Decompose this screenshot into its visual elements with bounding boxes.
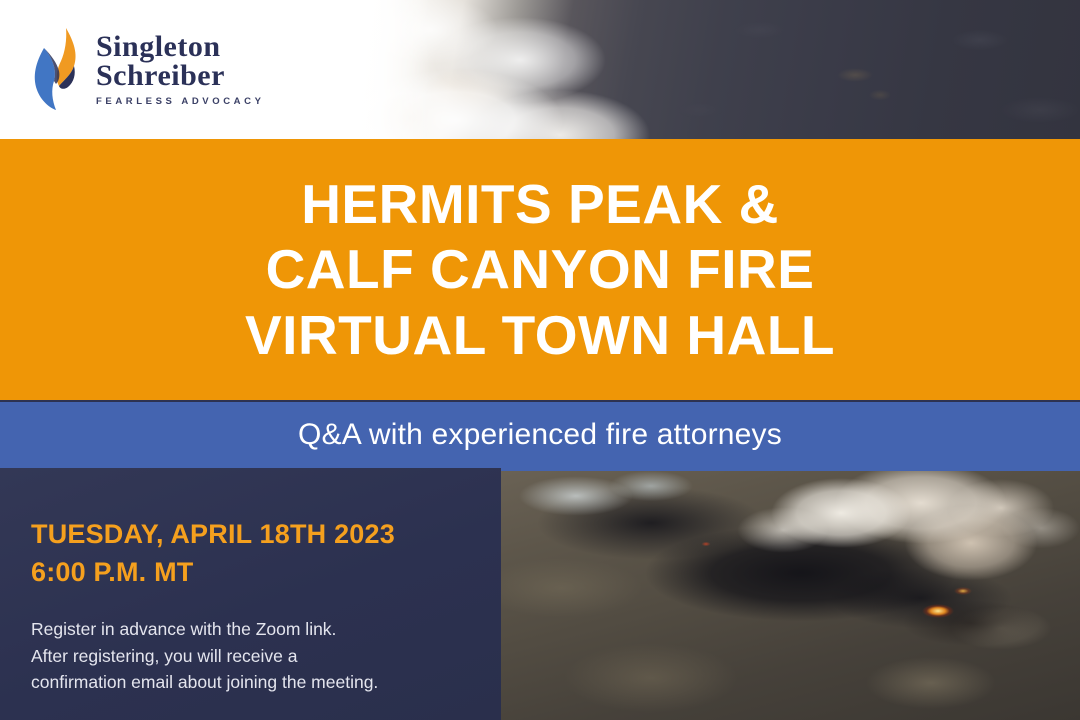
title-line-2: CALF CANYON FIRE: [266, 241, 815, 297]
details-band: TUESDAY, APRIL 18TH 2023 6:00 P.M. MT Re…: [0, 468, 1080, 720]
brand-wordmark: Singleton Schreiber FEARLESS ADVOCACY: [96, 31, 265, 106]
event-flyer: Singleton Schreiber FEARLESS ADVOCACY HE…: [0, 0, 1080, 720]
flame-logo-icon: [26, 26, 84, 112]
brand-tagline: FEARLESS ADVOCACY: [96, 96, 265, 107]
subtitle-text: Q&A with experienced fire attorneys: [298, 418, 782, 452]
brand-name-line2: Schreiber: [96, 62, 265, 90]
registration-line-3: confirmation email about joining the mee…: [31, 669, 481, 696]
registration-line-1: Register in advance with the Zoom link.: [31, 616, 481, 643]
brand-name-line1: Singleton: [96, 33, 265, 61]
photo-flame-layer: [501, 468, 1080, 720]
title-line-3: VIRTUAL TOWN HALL: [245, 307, 835, 363]
brand-logo[interactable]: Singleton Schreiber FEARLESS ADVOCACY: [26, 26, 265, 112]
photo-top-edge: [501, 468, 1080, 471]
registration-instructions: Register in advance with the Zoom link. …: [31, 616, 481, 696]
event-time: 6:00 P.M. MT: [31, 557, 193, 588]
subtitle-band: Q&A with experienced fire attorneys: [0, 402, 1080, 468]
event-date: TUESDAY, APRIL 18TH 2023: [31, 519, 395, 550]
title-band: HERMITS PEAK & CALF CANYON FIRE VIRTUAL …: [0, 139, 1080, 400]
registration-line-2: After registering, you will receive a: [31, 643, 481, 670]
header-band: Singleton Schreiber FEARLESS ADVOCACY: [0, 0, 1080, 139]
title-line-1: HERMITS PEAK &: [301, 176, 779, 232]
event-info-panel: TUESDAY, APRIL 18TH 2023 6:00 P.M. MT Re…: [0, 468, 501, 720]
wildfire-photo: [501, 468, 1080, 720]
